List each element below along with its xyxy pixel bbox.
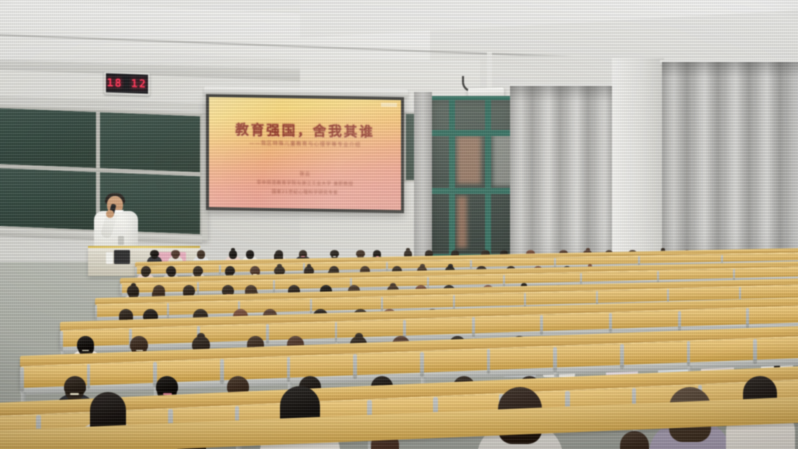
seat-divider xyxy=(609,313,612,333)
audience-hair xyxy=(250,266,260,274)
audience-hair xyxy=(141,266,151,274)
seat-divider xyxy=(310,299,312,315)
audience-hair xyxy=(166,266,176,274)
hair-bun xyxy=(406,248,410,251)
hair-bun xyxy=(355,333,363,340)
seat-divider xyxy=(335,322,338,342)
seat-divider xyxy=(87,364,91,389)
hair-bun xyxy=(390,283,395,288)
seat-divider xyxy=(687,341,691,366)
audience-hair xyxy=(153,285,165,295)
audience-hair xyxy=(77,336,95,351)
seat-divider xyxy=(553,347,557,372)
seat-divider xyxy=(746,308,749,328)
audience-hair xyxy=(246,250,254,257)
seat-divider xyxy=(540,315,543,335)
audience-member xyxy=(622,431,648,449)
hair-tie xyxy=(70,393,79,395)
seat-divider xyxy=(167,303,169,319)
hair-bun xyxy=(420,264,425,268)
audience-hair xyxy=(225,266,235,274)
audience-hair xyxy=(156,376,178,394)
seat-divider xyxy=(427,277,429,290)
hair-bun xyxy=(448,264,453,268)
hair-bun xyxy=(586,248,590,251)
seat-divider xyxy=(487,349,491,374)
lecture-hall-photo: 18 12 教育强国，舍我其谁 ——我区特殊儿童教育与心理学等专业介绍 张云 华… xyxy=(0,0,798,449)
seat-divider xyxy=(95,305,97,321)
audience-hair xyxy=(620,431,649,449)
seat-divider xyxy=(197,282,199,295)
audience-hair xyxy=(197,250,205,257)
audience-hair xyxy=(183,285,195,295)
seat-divider xyxy=(420,352,424,377)
seat-divider xyxy=(287,357,291,382)
seat-divider xyxy=(472,317,475,337)
seat-divider xyxy=(60,331,63,351)
seat-divider xyxy=(220,359,224,384)
audience-hair xyxy=(130,336,148,351)
audience-hair xyxy=(356,250,364,257)
seat-divider xyxy=(120,284,122,297)
audience-hair xyxy=(150,250,158,257)
hair-bun xyxy=(131,283,136,288)
audience-hair xyxy=(275,250,283,257)
seat-divider xyxy=(753,339,757,364)
seat-divider xyxy=(620,344,624,369)
seat-divider xyxy=(266,324,269,344)
audience-hair xyxy=(171,250,179,257)
audience-hair xyxy=(64,376,86,394)
seat-divider xyxy=(678,311,681,331)
seat-divider xyxy=(353,354,357,379)
audience-area xyxy=(0,0,798,449)
hair-bun xyxy=(231,248,235,251)
seat-divider xyxy=(20,367,24,392)
audience-hair xyxy=(193,266,203,274)
